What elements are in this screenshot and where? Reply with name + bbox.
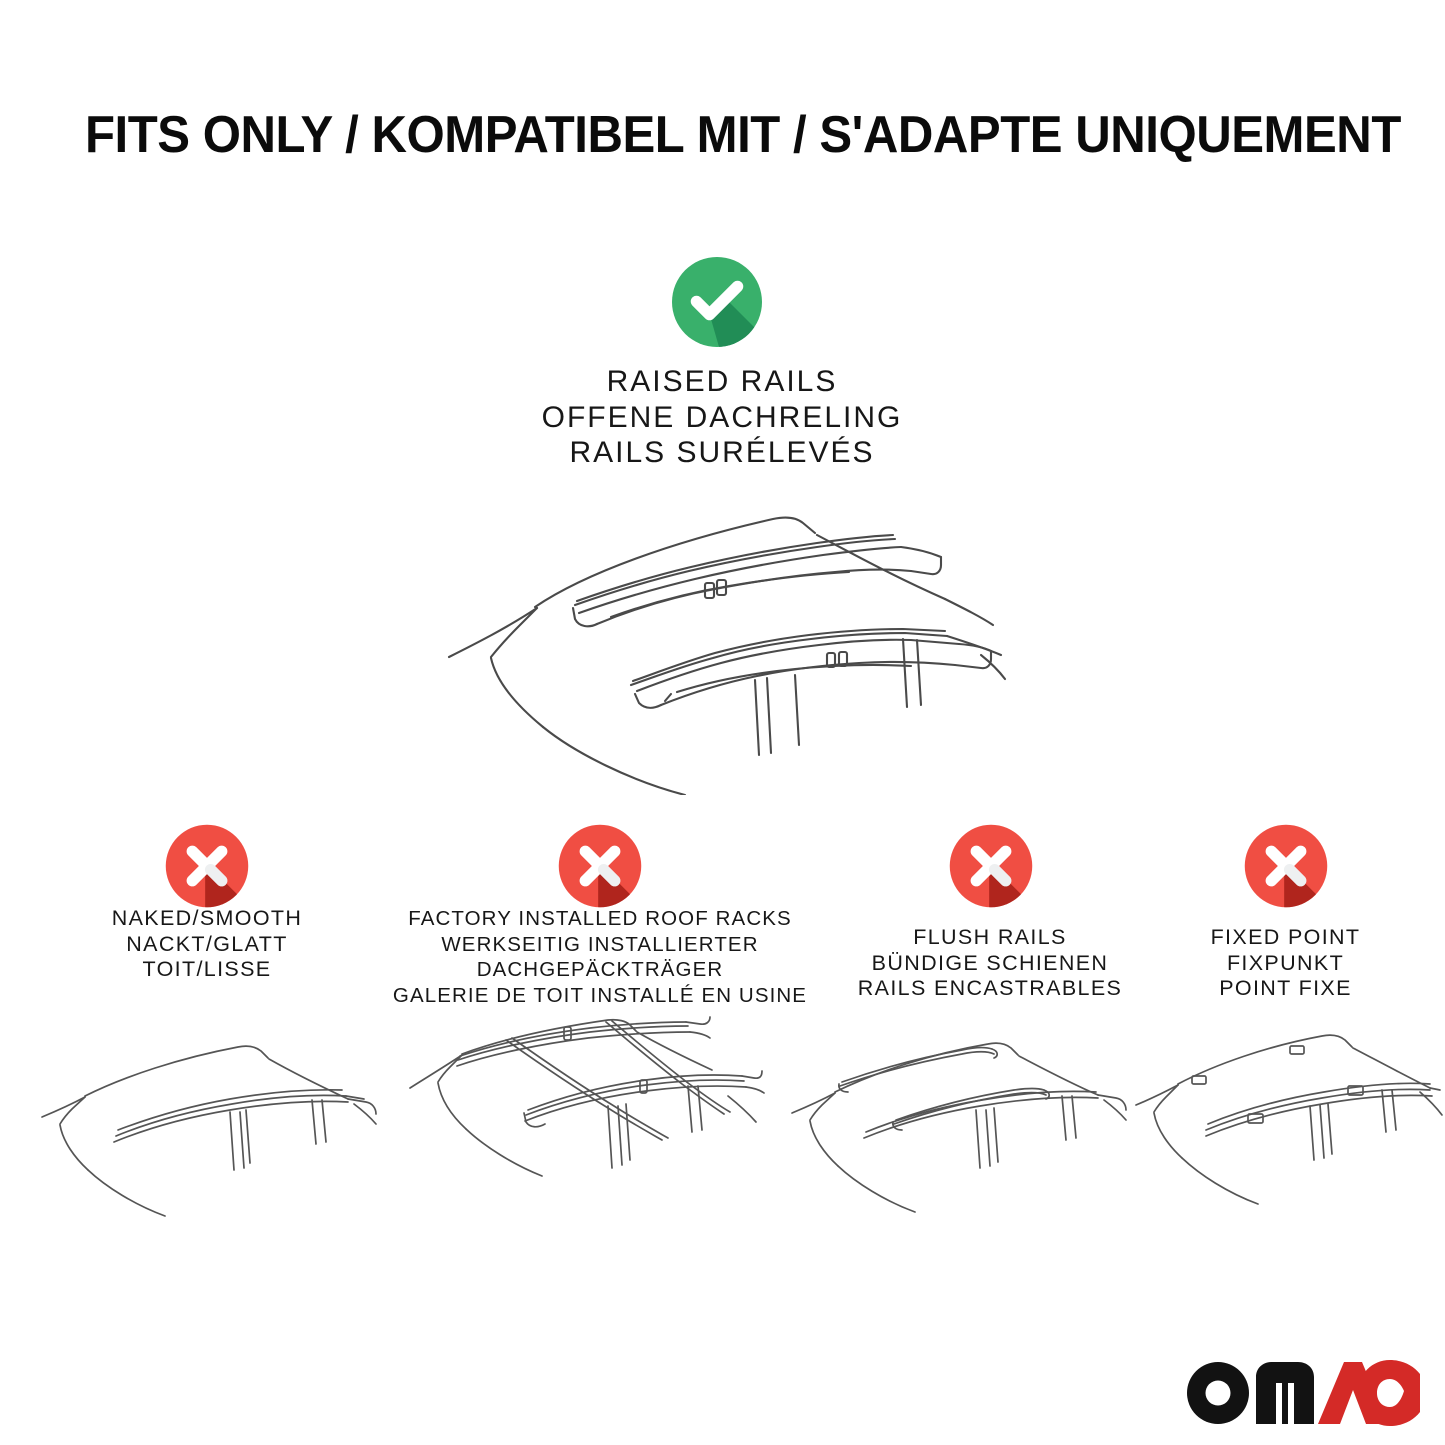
compatible-line-2: OFFENE DACHRELING [322, 400, 1122, 436]
flush-line-1: FLUSH RAILS [810, 925, 1170, 951]
incompatible-label-flush-rails: FLUSH RAILS BÜNDIGE SCHIENEN RAILS ENCAS… [810, 925, 1170, 1002]
red-x-circle-icon-factory-racks [556, 822, 644, 910]
incompatible-label-naked-smooth: NAKED/SMOOTH NACKT/GLATT TOIT/LISSE [27, 906, 387, 983]
factory-line-1: FACTORY INSTALLED ROOF RACKS [360, 906, 840, 932]
naked-line-3: TOIT/LISSE [27, 957, 387, 983]
green-check-circle-icon [669, 254, 765, 350]
car-roof-factory-racks-illustration [400, 1010, 770, 1250]
fitment-infographic: FITS ONLY / KOMPATIBEL MIT / S'ADAPTE UN… [0, 0, 1445, 1445]
car-roof-naked-illustration [30, 1020, 390, 1250]
incompatible-label-factory-racks: FACTORY INSTALLED ROOF RACKS WERKSEITIG … [360, 906, 840, 1008]
compatible-line-3: RAILS SURÉLEVÉS [322, 435, 1122, 471]
naked-line-2: NACKT/GLATT [27, 932, 387, 958]
logo-letter-o [1187, 1362, 1249, 1424]
fixed-line-1: FIXED POINT [1128, 925, 1443, 951]
fixed-line-3: POINT FIXE [1128, 976, 1443, 1002]
car-roof-flush-rails-illustration [780, 1020, 1140, 1250]
compatible-line-1: RAISED RAILS [322, 364, 1122, 400]
factory-line-4: GALERIE DE TOIT INSTALLÉ EN USINE [360, 983, 840, 1009]
omac-logo [1186, 1357, 1422, 1429]
page-title: FITS ONLY / KOMPATIBEL MIT / S'ADAPTE UN… [85, 106, 1304, 164]
flush-line-3: RAILS ENCASTRABLES [810, 976, 1170, 1002]
naked-line-1: NAKED/SMOOTH [27, 906, 387, 932]
factory-line-3: DACHGEPÄCKTRÄGER [360, 957, 840, 983]
logo-letter-c [1358, 1360, 1420, 1426]
flush-line-2: BÜNDIGE SCHIENEN [810, 951, 1170, 977]
car-roof-raised-rails-illustration [425, 495, 1025, 795]
car-roof-fixed-point-illustration [1130, 1020, 1445, 1250]
logo-letter-m [1256, 1362, 1314, 1424]
factory-line-2: WERKSEITIG INSTALLIERTER [360, 932, 840, 958]
incompatible-label-fixed-point: FIXED POINT FIXPUNKT POINT FIXE [1128, 925, 1443, 1002]
red-x-circle-icon-fixed-point [1242, 822, 1330, 910]
compatible-label: RAISED RAILS OFFENE DACHRELING RAILS SUR… [322, 364, 1122, 471]
red-x-circle-icon-flush-rails [947, 822, 1035, 910]
fixed-line-2: FIXPUNKT [1128, 951, 1443, 977]
red-x-circle-icon-naked [163, 822, 251, 910]
